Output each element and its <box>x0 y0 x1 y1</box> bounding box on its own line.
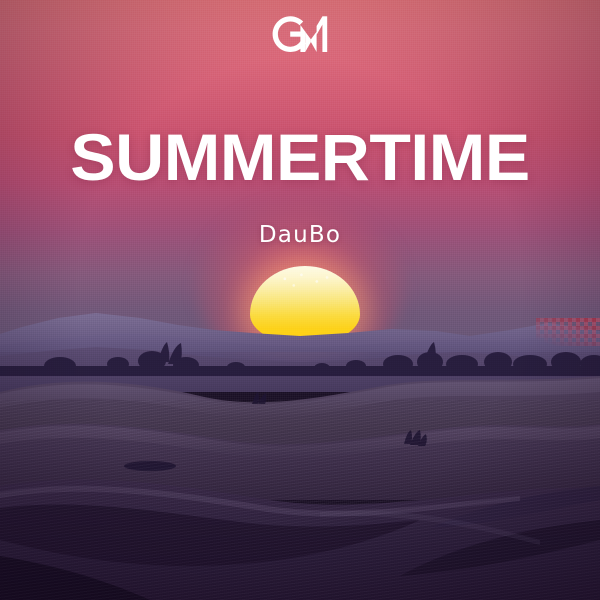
gm-monogram-logo <box>0 14 600 54</box>
album-cover: SUMMERTIME DauBo <box>0 0 600 600</box>
page-title: SUMMERTIME <box>0 124 600 190</box>
gm-logo-icon <box>270 14 330 54</box>
pink-dither-artifact <box>536 318 600 346</box>
artist-name: DauBo <box>0 222 600 248</box>
desert-landscape <box>0 0 600 600</box>
